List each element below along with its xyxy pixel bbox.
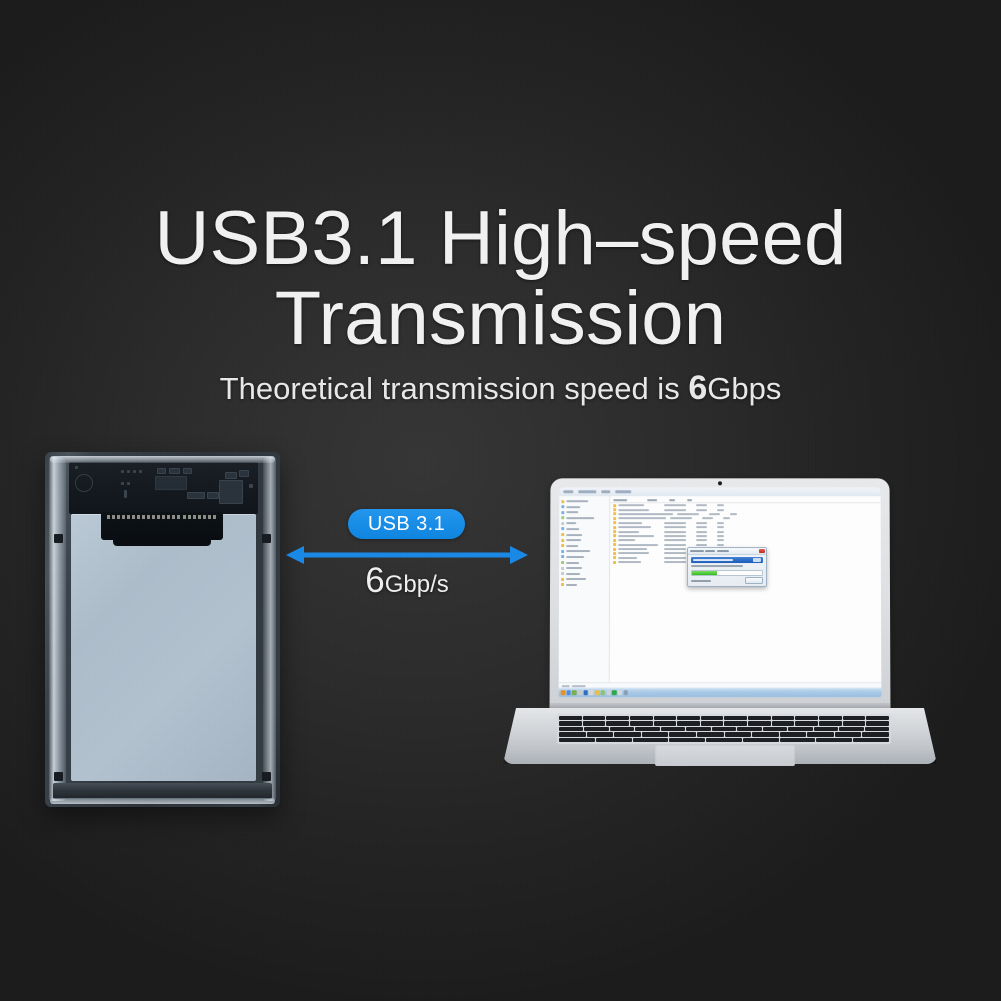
key[interactable] [843, 716, 866, 720]
toolbar-item[interactable] [578, 490, 596, 493]
enclosure-clip [54, 534, 63, 543]
dialog-cancel-button[interactable] [745, 577, 763, 584]
key[interactable] [661, 727, 685, 731]
key[interactable] [630, 721, 653, 725]
enclosure-drive-body [71, 514, 256, 781]
sidebar-item[interactable] [561, 583, 607, 587]
enclosure-pcb [69, 462, 258, 514]
key[interactable] [686, 727, 710, 731]
dialog-detail-text [691, 580, 711, 582]
folder-icon [613, 561, 616, 564]
keyboard[interactable] [557, 714, 891, 744]
pcb-dot [127, 470, 130, 473]
folder-icon [613, 535, 616, 538]
key[interactable] [606, 721, 629, 725]
subtitle-value: 6 [688, 369, 707, 407]
key[interactable] [780, 738, 816, 742]
sata-pin-group-2 [183, 515, 216, 519]
taskbar-icon[interactable] [623, 690, 628, 696]
key[interactable] [752, 732, 779, 736]
key[interactable] [677, 721, 700, 725]
pcb-chip [207, 492, 219, 499]
enclosure-clip [262, 772, 271, 781]
sidebar-item[interactable] [561, 572, 607, 576]
folder-icon [613, 517, 616, 520]
key[interactable] [584, 727, 608, 731]
taskbar-icon[interactable] [566, 690, 571, 696]
key[interactable] [843, 721, 866, 725]
pcb-chip [157, 468, 166, 474]
toolbar-item[interactable] [563, 490, 573, 493]
key[interactable] [795, 716, 818, 720]
key[interactable] [795, 721, 818, 725]
key[interactable] [633, 738, 669, 742]
key[interactable] [814, 727, 838, 731]
key[interactable] [780, 732, 807, 736]
key[interactable] [677, 716, 700, 720]
pcb-chip [239, 470, 249, 477]
key[interactable] [669, 732, 696, 736]
folder-icon [613, 539, 616, 542]
enclosure-clip [54, 772, 63, 781]
sidebar-item[interactable] [561, 527, 607, 531]
transfer-rate-label: 6Gbp/s [286, 561, 528, 608]
key[interactable] [772, 716, 795, 720]
explorer-toolbar-items[interactable] [563, 490, 631, 493]
key[interactable] [559, 721, 582, 725]
enclosure-left-edge [49, 457, 66, 801]
sidebar-item[interactable] [561, 510, 607, 514]
key[interactable] [835, 732, 862, 736]
folder-icon [613, 521, 616, 524]
sidebar-item[interactable] [561, 499, 607, 503]
sidebar-item[interactable] [561, 516, 607, 520]
toolbar-item[interactable] [615, 490, 631, 493]
key[interactable] [865, 727, 889, 731]
sidebar-item[interactable] [561, 505, 607, 509]
folder-icon [613, 548, 616, 551]
key[interactable] [866, 716, 889, 720]
taskbar-icon[interactable] [612, 690, 617, 696]
sata-connector [101, 512, 223, 540]
column-header[interactable] [613, 499, 627, 501]
taskbar-icon[interactable] [601, 690, 606, 696]
sidebar-item[interactable] [561, 566, 607, 570]
pcb-dot [75, 466, 78, 469]
transfer-rate-value: 6 [365, 561, 384, 600]
key[interactable] [839, 727, 863, 731]
pcb-chip [225, 472, 237, 479]
pcb-dot [127, 482, 130, 485]
subtitle-unit: Gbps [707, 371, 781, 406]
dialog-thumbnail [753, 558, 761, 562]
key[interactable] [748, 721, 771, 725]
key[interactable] [642, 732, 669, 736]
keyboard-row[interactable] [559, 732, 889, 736]
key[interactable] [587, 732, 614, 736]
sidebar-item[interactable] [561, 549, 607, 553]
pcb-dot [121, 482, 124, 485]
key[interactable] [610, 727, 634, 731]
taskbar-icon[interactable] [618, 690, 623, 696]
key[interactable] [743, 738, 779, 742]
subtitle: Theoretical transmission speed is 6Gbps [0, 368, 1001, 409]
folder-icon [613, 552, 616, 555]
key[interactable] [748, 716, 771, 720]
headline-line-1: USB3.1 High–speed [0, 196, 1001, 282]
key[interactable] [819, 716, 842, 720]
enclosure-right-edge [263, 457, 276, 801]
key[interactable] [866, 721, 889, 725]
key[interactable] [635, 727, 659, 731]
laptop [495, 478, 945, 778]
enclosure-clip [262, 534, 271, 543]
dialog-selected-row [691, 557, 763, 563]
dialog-title-bar[interactable] [688, 548, 766, 555]
pcb-chip [169, 468, 180, 474]
sidebar-item[interactable] [561, 538, 607, 542]
keyboard-row[interactable] [559, 721, 889, 725]
key[interactable] [654, 716, 677, 720]
pcb-chip [187, 492, 205, 499]
key[interactable] [788, 727, 812, 731]
key[interactable] [763, 727, 787, 731]
key[interactable] [807, 732, 834, 736]
enclosure-bottom-edge [50, 798, 275, 804]
explorer-sidebar[interactable] [559, 496, 611, 688]
folder-icon [613, 508, 616, 511]
hard-drive-enclosure [45, 452, 280, 807]
enclosure-bottom-bar [53, 783, 272, 799]
pcb-dot [124, 490, 127, 498]
key[interactable] [701, 716, 724, 720]
keyboard-row[interactable] [559, 727, 889, 731]
column-header[interactable] [687, 499, 692, 501]
pcb-ring [75, 474, 93, 492]
key[interactable] [819, 721, 842, 725]
folder-icon [613, 556, 616, 559]
key[interactable] [706, 738, 742, 742]
folder-icon [613, 504, 616, 507]
key[interactable] [596, 738, 632, 742]
folder-icon [613, 543, 616, 546]
pcb-chip [183, 468, 192, 474]
taskbar-icon[interactable] [561, 690, 566, 696]
taskbar-icon[interactable] [583, 690, 588, 696]
keyboard-row[interactable] [559, 738, 889, 742]
key[interactable] [614, 732, 641, 736]
key[interactable] [669, 738, 705, 742]
taskbar-icon[interactable] [589, 690, 594, 696]
webcam-icon [718, 481, 722, 485]
pcb-dot [139, 470, 142, 473]
key[interactable] [606, 716, 629, 720]
key[interactable] [559, 727, 583, 731]
key[interactable] [853, 738, 889, 742]
key[interactable] [559, 732, 586, 736]
explorer-file-list[interactable] [610, 496, 882, 688]
pcb-controller-chip [219, 480, 243, 504]
key[interactable] [630, 716, 653, 720]
pcb-dot [121, 470, 124, 473]
trackpad[interactable] [655, 744, 795, 766]
folder-icon [613, 526, 616, 529]
taskbar-icon[interactable] [595, 690, 600, 696]
folder-icon [613, 530, 616, 533]
pcb-chip [155, 476, 187, 490]
key[interactable] [654, 721, 677, 725]
key[interactable] [862, 732, 889, 736]
taskbar[interactable] [559, 687, 882, 697]
dialog-message [691, 565, 743, 567]
close-icon[interactable] [758, 549, 764, 553]
keyboard-row[interactable] [559, 716, 889, 720]
key[interactable] [737, 727, 761, 731]
enclosure-top-edge [50, 456, 275, 463]
progress-bar [691, 570, 763, 576]
key[interactable] [583, 721, 606, 725]
sidebar-item[interactable] [561, 577, 607, 581]
transfer-rate-unit: Gbp/s [385, 571, 449, 598]
file-explorer-window [559, 487, 882, 697]
key[interactable] [725, 732, 752, 736]
product-banner: USB3.1 High–speed Transmission Theoretic… [0, 0, 1001, 1001]
key[interactable] [772, 721, 795, 725]
sidebar-item[interactable] [561, 561, 607, 565]
laptop-screen [559, 487, 882, 697]
key[interactable] [697, 732, 724, 736]
dialog-footer [691, 577, 763, 584]
toolbar-item[interactable] [601, 490, 610, 493]
key[interactable] [712, 727, 736, 731]
key[interactable] [724, 721, 747, 725]
laptop-lid [550, 478, 891, 710]
subtitle-prefix: Theoretical transmission speed is [220, 371, 689, 406]
key[interactable] [559, 716, 582, 720]
key[interactable] [724, 716, 747, 720]
column-header[interactable] [669, 499, 675, 501]
explorer-body [559, 496, 882, 688]
sidebar-item[interactable] [561, 522, 607, 526]
taskbar-icon[interactable] [606, 690, 611, 696]
taskbar-icon[interactable] [572, 690, 577, 696]
sata-pin-group-1 [107, 515, 180, 519]
pcb-dot [249, 484, 253, 488]
sidebar-item[interactable] [561, 533, 607, 537]
copy-progress-dialog[interactable] [687, 547, 767, 587]
headline-line-2: Transmission [0, 276, 1001, 362]
key[interactable] [701, 721, 724, 725]
key[interactable] [816, 738, 852, 742]
key[interactable] [583, 716, 606, 720]
key[interactable] [559, 738, 595, 742]
pcb-dot [133, 470, 136, 473]
sidebar-item[interactable] [561, 544, 607, 548]
column-header[interactable] [647, 499, 657, 501]
sidebar-item[interactable] [561, 555, 607, 559]
taskbar-icon[interactable] [578, 690, 583, 696]
folder-icon [613, 513, 616, 516]
usb-version-badge: USB 3.1 [348, 509, 465, 539]
